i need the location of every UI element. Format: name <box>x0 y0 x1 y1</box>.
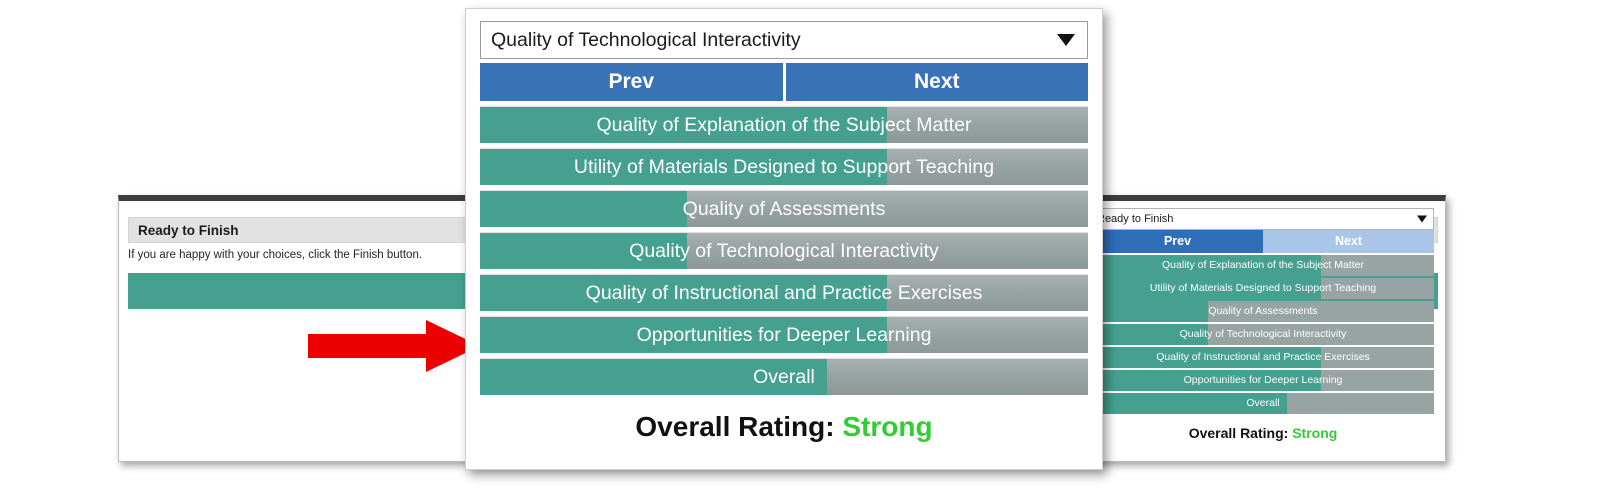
criteria-bar-label: Utility of Materials Designed to Support… <box>480 149 1088 185</box>
right-arrow-icon <box>308 318 480 374</box>
criteria-bar[interactable]: Quality of Technological Interactivity <box>480 232 1088 269</box>
chevron-down-icon <box>1057 34 1075 46</box>
nav-row: Prev Next <box>1092 230 1434 253</box>
prev-button[interactable]: Prev <box>1092 230 1263 253</box>
criteria-bar[interactable]: Utility of Materials Designed to Support… <box>480 148 1088 185</box>
criteria-bar[interactable]: Quality of Instructional and Practice Ex… <box>480 274 1088 311</box>
criteria-bar-label: Opportunities for Deeper Learning <box>480 317 1088 353</box>
magnified-section-select[interactable]: Quality of Technological Interactivity <box>480 21 1088 59</box>
criteria-bar-list: Quality of Explanation of the Subject Ma… <box>1092 255 1434 414</box>
criteria-bar-label: Quality of Assessments <box>480 191 1088 227</box>
criteria-bar[interactable]: Utility of Materials Designed to Support… <box>1092 278 1434 299</box>
criteria-bar-label: Quality of Instructional and Practice Ex… <box>1092 347 1434 368</box>
criteria-bar-label: Overall <box>1092 393 1434 414</box>
criteria-bar[interactable]: Quality of Explanation of the Subject Ma… <box>1092 255 1434 276</box>
magnified-overall-rating: Overall Rating: Strong <box>480 411 1088 443</box>
next-button[interactable]: Next <box>1263 230 1434 253</box>
criteria-bar-label: Quality of Explanation of the Subject Ma… <box>1092 255 1434 276</box>
magnified-nav-row: Prev Next <box>480 63 1088 101</box>
screenshot-root: Ready to Finish If you are happy with yo… <box>0 0 1611 489</box>
magnified-widget-panel: Quality of Technological Interactivity P… <box>465 8 1103 470</box>
criteria-bar[interactable]: Overall <box>1092 393 1434 414</box>
criteria-bar[interactable]: Opportunities for Deeper Learning <box>480 316 1088 353</box>
magnified-overall-rating-label: Overall Rating: <box>635 411 834 442</box>
criteria-bar-label: Quality of Technological Interactivity <box>480 233 1088 269</box>
magnified-prev-button[interactable]: Prev <box>480 63 783 101</box>
chevron-down-icon <box>1417 216 1427 223</box>
card-body-text: If you are happy with your choices, clic… <box>128 249 422 261</box>
criteria-bar[interactable]: Overall <box>480 358 1088 395</box>
rating-widget: Ready to Finish Prev Next Quality of Exp… <box>1092 208 1434 441</box>
section-select[interactable]: Ready to Finish <box>1092 208 1434 230</box>
magnified-overall-rating-value: Strong <box>842 411 932 442</box>
criteria-bar[interactable]: Quality of Assessments <box>1092 301 1434 322</box>
criteria-bar-label: Utility of Materials Designed to Support… <box>1092 278 1434 299</box>
criteria-bar-label: Opportunities for Deeper Learning <box>1092 370 1434 391</box>
criteria-bar[interactable]: Quality of Instructional and Practice Ex… <box>1092 347 1434 368</box>
criteria-bar[interactable]: Quality of Explanation of the Subject Ma… <box>480 106 1088 143</box>
criteria-bar[interactable]: Quality of Technological Interactivity <box>1092 324 1434 345</box>
magnified-section-select-value: Quality of Technological Interactivity <box>491 29 801 52</box>
criteria-bar[interactable]: Opportunities for Deeper Learning <box>1092 370 1434 391</box>
section-select-value: Ready to Finish <box>1097 213 1173 225</box>
criteria-bar-label: Quality of Assessments <box>1092 301 1434 322</box>
overall-rating: Overall Rating: Strong <box>1092 425 1434 441</box>
overall-rating-value: Strong <box>1292 425 1337 441</box>
criteria-bar-label: Overall <box>480 359 1088 395</box>
criteria-bar-label: Quality of Instructional and Practice Ex… <box>480 275 1088 311</box>
magnified-criteria-bar-list: Quality of Explanation of the Subject Ma… <box>480 106 1088 395</box>
magnified-next-button[interactable]: Next <box>786 63 1089 101</box>
overall-rating-label: Overall Rating: <box>1189 425 1289 441</box>
criteria-bar-label: Quality of Explanation of the Subject Ma… <box>480 107 1088 143</box>
criteria-bar-label: Quality of Technological Interactivity <box>1092 324 1434 345</box>
criteria-bar[interactable]: Quality of Assessments <box>480 190 1088 227</box>
